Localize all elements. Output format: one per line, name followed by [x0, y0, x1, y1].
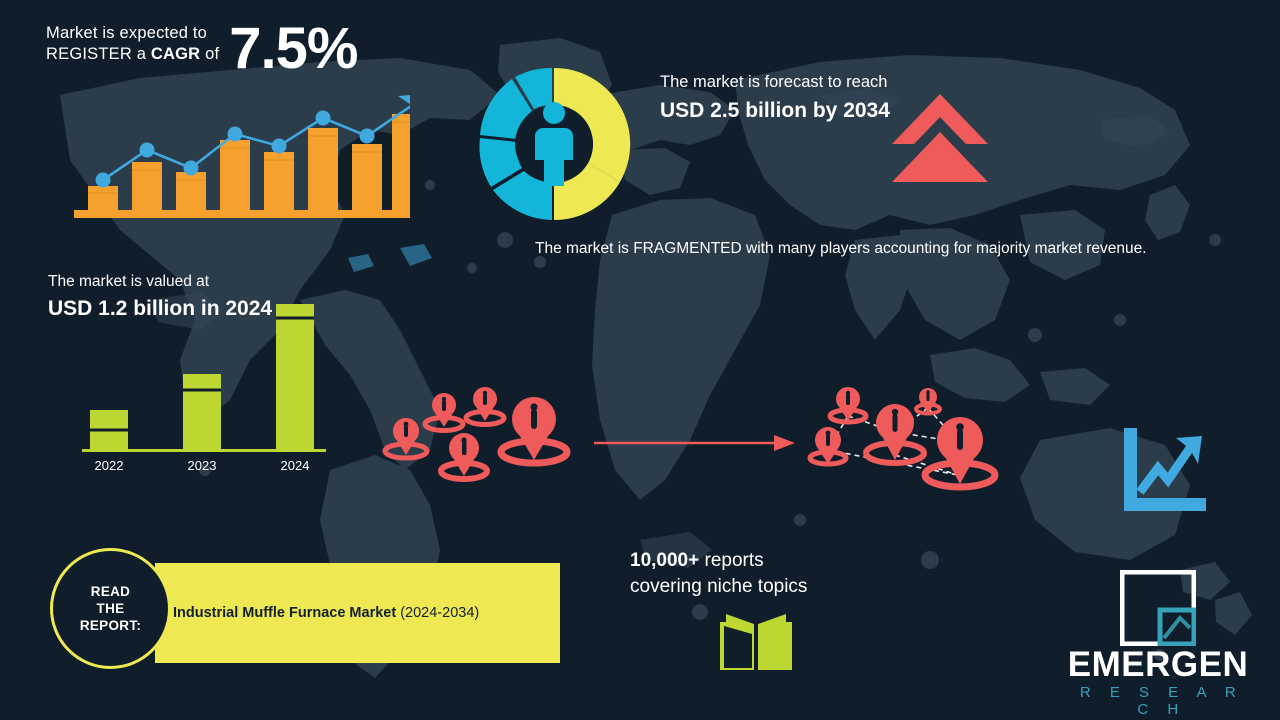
- reports-count-number: 10,000+: [630, 550, 699, 571]
- open-book-icon: [718, 612, 794, 674]
- reports-count: 10,000+ reports covering niche topics: [630, 548, 930, 600]
- cagr-label: Market is expected to REGISTER a CAGR of: [46, 20, 219, 65]
- report-title-years: (2024-2034): [400, 605, 479, 621]
- double-chevron-up-icon: [888, 92, 992, 184]
- cagr-value: 7.5%: [229, 20, 357, 78]
- forecast-block: The market is forecast to reach USD 2.5 …: [660, 72, 900, 124]
- read-the-report-label: READ THE REPORT:: [80, 583, 141, 634]
- cagr-block: Market is expected to REGISTER a CAGR of…: [46, 20, 357, 78]
- infographic-canvas: Market is expected to REGISTER a CAGR of…: [0, 0, 1280, 720]
- square-chart-logo-icon: [1120, 570, 1196, 646]
- cagr-label-line2-pre: REGISTER a: [46, 45, 151, 63]
- cta-line1: READ: [91, 584, 130, 599]
- reports-count-suffix: reports: [699, 550, 763, 571]
- year-label-2022: 2022: [95, 458, 124, 472]
- emergen-research-logo: EMERGEN R E S E A R C H: [1058, 570, 1258, 718]
- cta-line2: THE: [97, 601, 125, 616]
- fragmentation-note: The market is FRAGMENTED with many playe…: [535, 238, 1225, 260]
- line-chart-up-icon: [1118, 424, 1210, 516]
- cagr-label-bold: CAGR: [151, 45, 200, 63]
- growth-trend-chart: [70, 88, 410, 220]
- year-label-2024: 2024: [281, 458, 310, 472]
- reports-count-block: 10,000+ reports covering niche topics: [630, 548, 930, 600]
- valuation-by-year-chart: 2022 2023 2024: [78, 292, 338, 472]
- logo-subtitle: R E S E A R C H: [1058, 684, 1258, 718]
- cagr-label-line2-post: of: [200, 45, 219, 63]
- report-title-text: Industrial Muffle Furnace Market: [173, 605, 400, 621]
- report-title: Industrial Muffle Furnace Market (2024-2…: [173, 605, 479, 621]
- cagr-label-line1: Market is expected to: [46, 24, 207, 42]
- map-pin-cluster-left: [382, 380, 582, 495]
- read-the-report-button[interactable]: READ THE REPORT:: [50, 548, 171, 669]
- forecast-lead: The market is forecast to reach: [660, 72, 900, 93]
- valuation-lead: The market is valued at: [48, 272, 298, 292]
- reports-count-line2: covering niche topics: [630, 576, 807, 597]
- year-label-2023: 2023: [188, 458, 217, 472]
- logo-name: EMERGEN: [1058, 646, 1258, 684]
- market-share-donut: [468, 58, 640, 230]
- map-pin-cluster-right: [800, 380, 1015, 500]
- report-banner[interactable]: Industrial Muffle Furnace Market (2024-2…: [155, 563, 560, 663]
- forecast-value: USD 2.5 billion by 2034: [660, 97, 900, 124]
- cta-line3: REPORT:: [80, 618, 141, 633]
- right-arrow-icon: [592, 428, 797, 458]
